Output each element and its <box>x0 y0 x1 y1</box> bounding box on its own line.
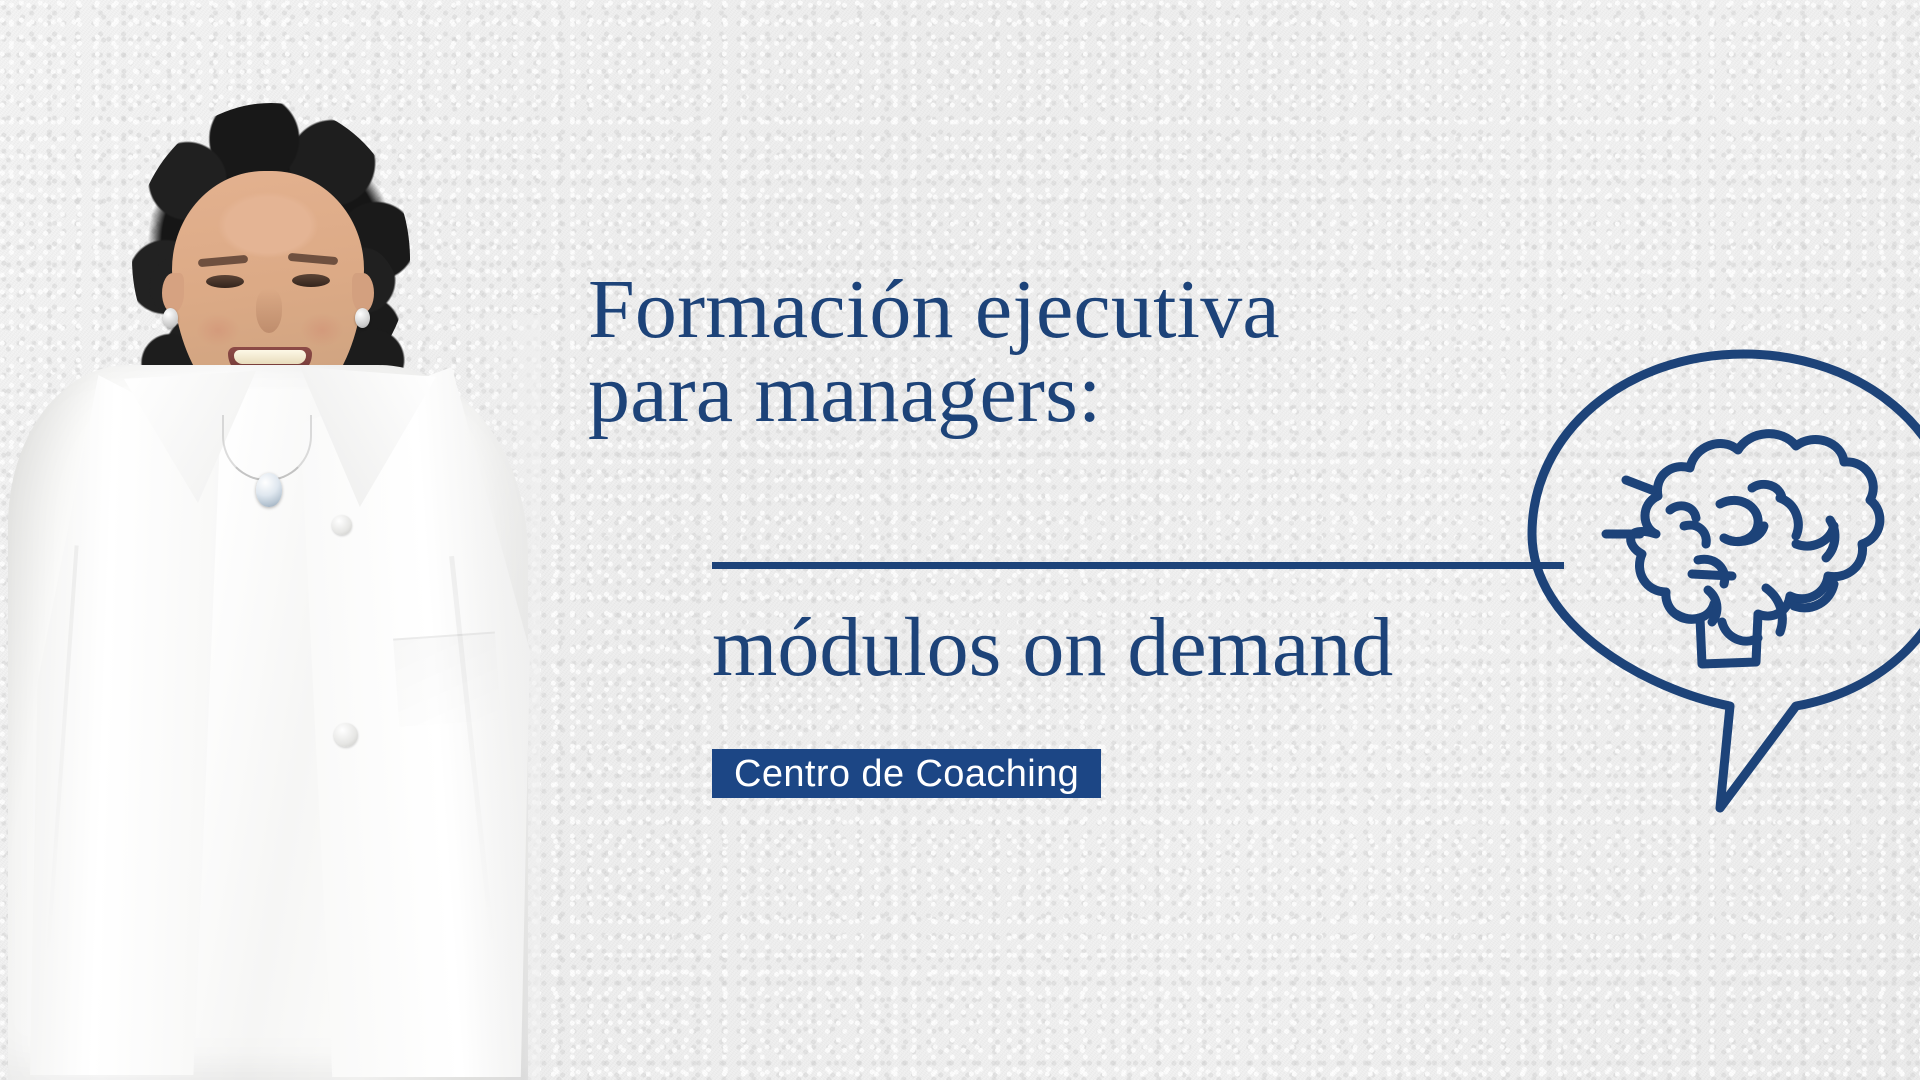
left-ear <box>162 273 184 313</box>
brain-fold-6 <box>1670 506 1696 518</box>
badge-label: Centro de Coaching <box>734 755 1079 793</box>
right-ear <box>352 273 374 313</box>
nose <box>256 289 282 333</box>
blazer-button-upper <box>332 515 352 535</box>
brain-outline <box>1631 434 1880 664</box>
right-earring <box>355 308 370 328</box>
headline-block: Formación ejecutiva para managers: <box>588 268 1588 436</box>
brain-fold-4 <box>1692 574 1732 576</box>
presenter-photo <box>0 75 540 1080</box>
headline-divider-rule <box>712 562 1564 569</box>
brain-fold-14 <box>1752 484 1782 498</box>
right-cheek <box>300 313 344 347</box>
brain-fold-10 <box>1780 498 1798 536</box>
brain-speech-bubble-icon <box>1544 338 1920 838</box>
brain-fold-7 <box>1676 604 1714 619</box>
headline-line-1: Formación ejecutiva <box>588 268 1588 352</box>
spark-line-upper <box>1626 480 1652 490</box>
status-badge: Centro de Coaching <box>712 749 1101 798</box>
teeth <box>234 350 306 364</box>
blazer-pocket <box>393 632 501 727</box>
necklace-pendant <box>256 473 282 507</box>
left-cheek <box>196 313 240 347</box>
promo-banner: Formación ejecutiva para managers: módul… <box>0 0 1920 1080</box>
left-eye <box>206 275 244 288</box>
brain-fold-9 <box>1766 588 1782 632</box>
blazer-button-lower <box>334 723 358 747</box>
left-earring <box>163 308 178 328</box>
brain-fold-5 <box>1684 525 1706 544</box>
headline-line-2: para managers: <box>588 352 1588 436</box>
brain-fold-8 <box>1722 622 1758 641</box>
right-eye <box>292 274 330 287</box>
headline-subline: módulos on demand <box>712 600 1393 696</box>
